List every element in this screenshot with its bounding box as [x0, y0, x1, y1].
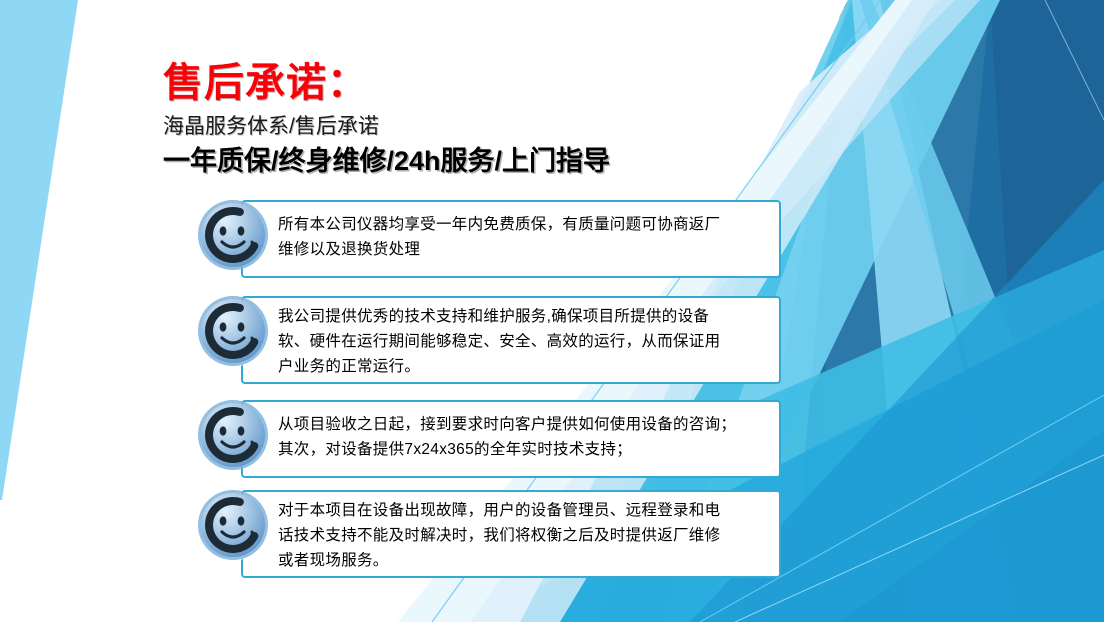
slide-canvas: 售后承诺： 海晶服务体系/售后承诺 一年质保/终身维修/24h服务/上门指导 — [0, 0, 1104, 622]
page-title: 售后承诺： — [163, 62, 783, 104]
headset-smiley-icon — [196, 398, 270, 472]
bg-hairline-3 — [735, 455, 1104, 622]
promise-text: 所有本公司仪器均享受一年内免费质保，有质量问题可协商返厂 维修以及退换货处理 — [278, 212, 770, 262]
bg-shape-b — [990, 0, 1104, 330]
headset-smiley-icon — [196, 294, 270, 368]
header-block: 售后承诺： 海晶服务体系/售后承诺 一年质保/终身维修/24h服务/上门指导 — [163, 62, 783, 178]
breadcrumb: 海晶服务体系/售后承诺 — [163, 114, 783, 139]
bg-shape-n — [840, 430, 1104, 622]
promise-text: 我公司提供优秀的技术支持和维护服务,确保项目所提供的设备 软、硬件在运行期间能够… — [278, 304, 770, 379]
bg-white-mask-2 — [0, 0, 78, 500]
bg-shape-g — [852, 0, 1020, 622]
bg-shape-h — [860, 0, 1104, 622]
bg-shape-c — [790, 0, 990, 622]
promise-text: 从项目验收之日起，接到要求时向客户提供如何使用设备的咨询； 其次，对设备提供7x… — [278, 412, 770, 462]
headset-smiley-icon — [196, 198, 270, 272]
promise-text: 对于本项目在设备出现故障，用户的设备管理员、远程登录和电 话技术支持不能及时解决… — [278, 498, 770, 573]
bg-left-wedge — [0, 0, 78, 500]
headset-smiley-icon — [196, 488, 270, 562]
bg-hairline-4 — [1045, 0, 1104, 120]
tagline: 一年质保/终身维修/24h服务/上门指导 — [163, 145, 783, 177]
bg-shape-a — [848, 0, 1104, 622]
